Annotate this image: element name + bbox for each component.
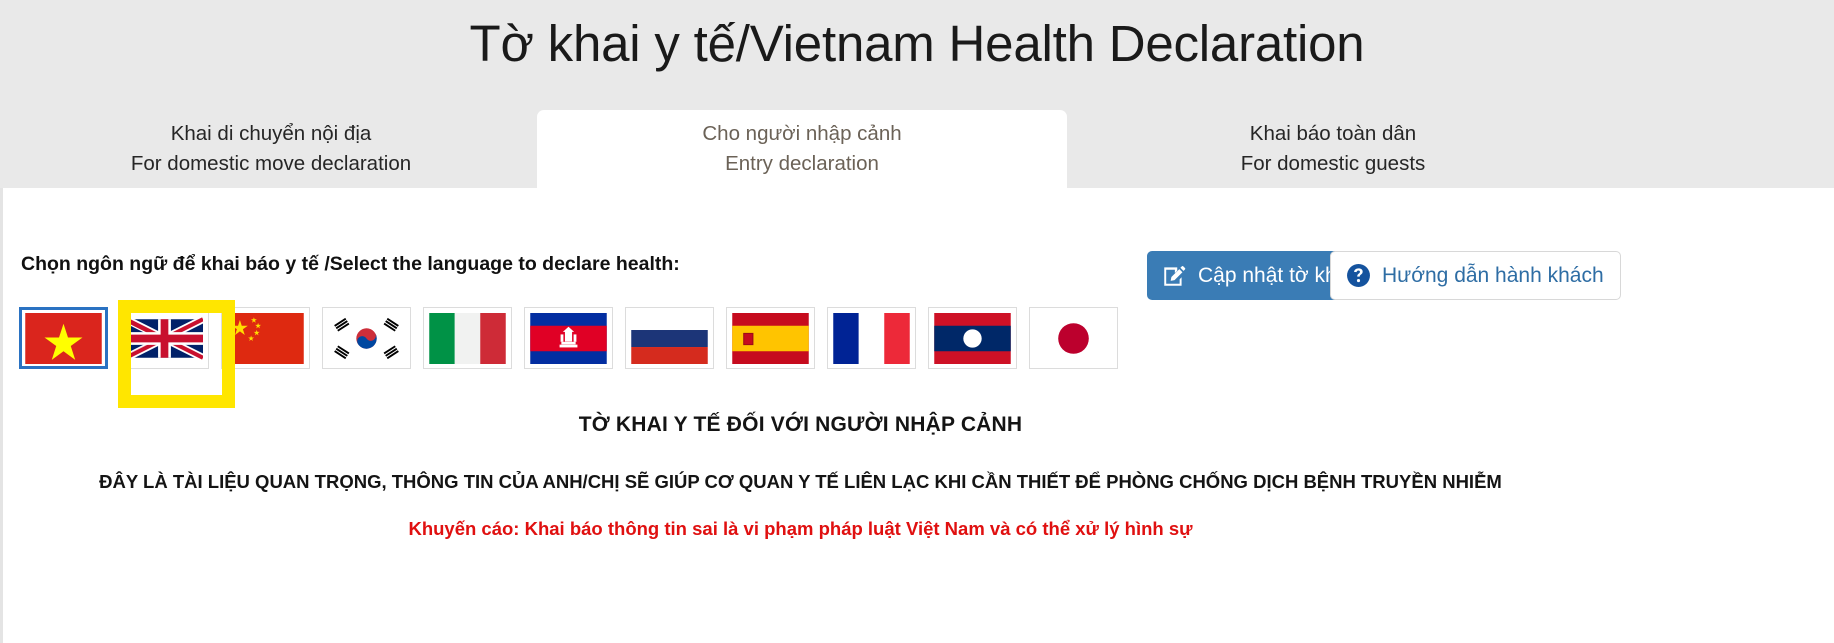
tab-domestic-move-line1: Khai di chuyển nội địa	[171, 119, 372, 149]
tab-entry-line2: Entry declaration	[725, 149, 879, 179]
flag-vietnam-icon	[25, 313, 102, 364]
tab-entry-line1: Cho người nhập cảnh	[702, 119, 901, 149]
entry-declaration-title: TỜ KHAI Y TẾ ĐỐI VỚI NGƯỜI NHẬP CẢNH	[0, 413, 1601, 437]
tab-domestic-move[interactable]: Khai di chuyển nội địa For domestic move…	[36, 110, 506, 188]
tab-entry[interactable]: Cho người nhập cảnh Entry declaration	[537, 110, 1067, 188]
flag-spain-icon	[732, 313, 809, 364]
flag-japan-icon	[1035, 313, 1112, 364]
flag-united-kingdom-icon	[126, 313, 203, 364]
flag-tile-cambodia[interactable]	[524, 307, 613, 369]
warning-notice-text: Khuyến cáo: Khai báo thông tin sai là vi…	[0, 518, 1601, 540]
question-circle-icon	[1346, 263, 1371, 288]
flag-france-icon	[833, 313, 910, 364]
passenger-guide-button[interactable]: Hướng dẫn hành khách	[1330, 251, 1621, 300]
flag-tile-japan[interactable]	[1029, 307, 1118, 369]
flag-tile-china[interactable]	[221, 307, 310, 369]
flag-tile-spain[interactable]	[726, 307, 815, 369]
language-flag-strip	[19, 307, 1118, 369]
passenger-guide-label: Hướng dẫn hành khách	[1382, 264, 1604, 288]
flag-tile-russia[interactable]	[625, 307, 714, 369]
tab-domestic-move-line2: For domestic move declaration	[131, 149, 411, 179]
edit-document-icon	[1161, 263, 1187, 289]
flag-italy-icon	[429, 313, 506, 364]
flag-laos-icon	[934, 313, 1011, 364]
important-notice-text: ĐÂY LÀ TÀI LIỆU QUAN TRỌNG, THÔNG TIN CỦ…	[0, 471, 1601, 493]
flag-tile-vietnam[interactable]	[19, 307, 108, 369]
tab-domestic-guests-line2: For domestic guests	[1241, 149, 1426, 179]
tab-domestic-guests-line1: Khai báo toàn dân	[1250, 119, 1416, 149]
flag-russia-icon	[631, 313, 708, 364]
flag-cambodia-icon	[530, 313, 607, 364]
flag-tile-italy[interactable]	[423, 307, 512, 369]
flag-china-icon	[227, 313, 304, 364]
flag-tile-france[interactable]	[827, 307, 916, 369]
page-title: Tờ khai y tế/Vietnam Health Declaration	[0, 16, 1834, 72]
language-select-label: Chọn ngôn ngữ để khai báo y tế /Select t…	[21, 253, 680, 276]
tab-domestic-guests[interactable]: Khai báo toàn dân For domestic guests	[1098, 110, 1568, 188]
flag-south-korea-icon	[328, 313, 405, 364]
flag-tile-united-kingdom[interactable]	[120, 307, 209, 369]
flag-tile-laos[interactable]	[928, 307, 1017, 369]
flag-tile-south-korea[interactable]	[322, 307, 411, 369]
health-declaration-page: Tờ khai y tế/Vietnam Health Declaration …	[0, 0, 1834, 643]
